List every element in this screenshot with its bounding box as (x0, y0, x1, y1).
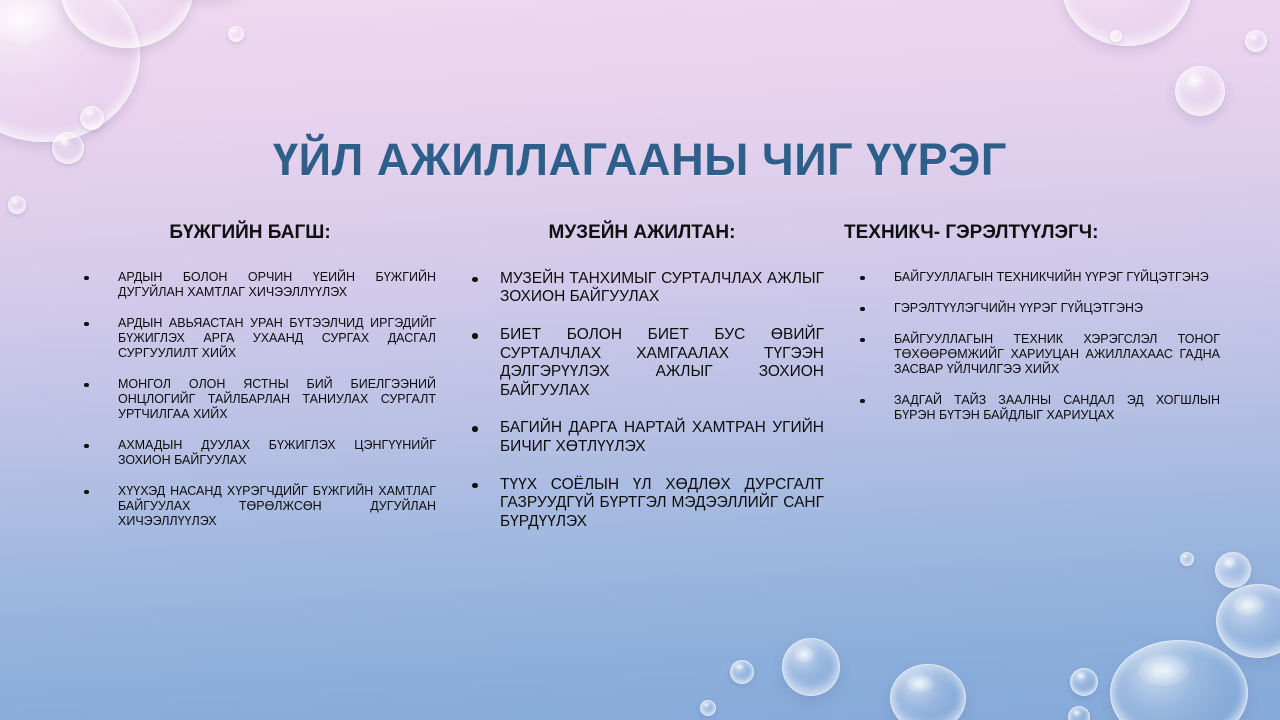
bullet-item: АРДЫН БОЛОН ОРЧИН ҮЕИЙН БҮЖГИЙН ДУГУЙЛАН… (64, 270, 436, 300)
content-column-2: МУЗЕЙН АЖИЛТАН: МУЗЕЙН ТАНХИМЫГ СУРТАЛЧЛ… (460, 222, 824, 550)
bullet-item: АХМАДЫН ДУУЛАХ БҮЖИГЛЭХ ЦЭНГҮҮНИЙГ ЗОХИО… (64, 438, 436, 468)
bullet-item: ТҮҮХ СОЁЛЫН ҮЛ ХӨДЛӨХ ДУРСГАЛТ ГАЗРУУДГҮ… (460, 476, 824, 532)
slide-title: ҮЙЛ АЖИЛЛАГААНЫ ЧИГ ҮҮРЭГ (64, 135, 1216, 185)
bubble-icon (1175, 66, 1225, 116)
presentation-slide: ҮЙЛ АЖИЛЛАГААНЫ ЧИГ ҮҮРЭГ БҮЖГИЙН БАГШ: … (0, 0, 1280, 720)
bullet-item: ГЭРЭЛТҮҮЛЭГЧИЙН ҮҮРЭГ ГҮЙЦЭТГЭНЭ (840, 301, 1220, 316)
bullet-list: БАЙГУУЛЛАГЫН ТЕХНИКЧИЙН ҮҮРЭГ ГҮЙЦЭТГЭНЭ… (840, 270, 1220, 423)
bubble-icon (1068, 706, 1090, 720)
column-heading: МУЗЕЙН АЖИЛТАН: (460, 222, 824, 244)
content-column-1: БҮЖГИЙН БАГШ: АРДЫН БОЛОН ОРЧИН ҮЕИЙН БҮ… (64, 222, 436, 545)
bullet-item: БАЙГУУЛЛАГЫН ТЕХНИКЧИЙН ҮҮРЭГ ГҮЙЦЭТГЭНЭ (840, 270, 1220, 285)
bubble-icon (8, 196, 26, 214)
bubble-icon (730, 660, 754, 684)
bubble-icon (1215, 552, 1251, 588)
bullet-item: МОНГОЛ ОЛОН ЯСТНЫ БИЙ БИЕЛГЭЭНИЙ ОНЦЛОГИ… (64, 377, 436, 422)
bubble-icon (1070, 668, 1098, 696)
bubble-icon (60, 0, 194, 48)
bubble-icon (1062, 0, 1192, 46)
bubble-icon (1245, 30, 1267, 52)
bullet-item: БИЕТ БОЛОН БИЕТ БУС ӨВИЙГ СУРТАЛЧЛАХ ХАМ… (460, 326, 824, 400)
column-heading: ТЕХНИКЧ- ГЭРЭЛТҮҮЛЭГЧ: (840, 222, 1220, 244)
bubble-icon (1110, 30, 1122, 42)
bubble-icon (0, 0, 140, 142)
column-heading: БҮЖГИЙН БАГШ: (64, 222, 436, 244)
bubble-icon (782, 638, 840, 696)
bullet-item: ЗАДГАЙ ТАЙЗ ЗААЛНЫ САНДАЛ ЭД ХОГШЛЫН БҮР… (840, 393, 1220, 423)
bullet-list: МУЗЕЙН ТАНХИМЫГ СУРТАЛЧЛАХ АЖЛЫГ ЗОХИОН … (460, 270, 824, 532)
bullet-list: АРДЫН БОЛОН ОРЧИН ҮЕИЙН БҮЖГИЙН ДУГУЙЛАН… (64, 270, 436, 529)
content-column-3: ТЕХНИКЧ- ГЭРЭЛТҮҮЛЭГЧ: БАЙГУУЛЛАГЫН ТЕХН… (840, 222, 1220, 439)
bullet-item: МУЗЕЙН ТАНХИМЫГ СУРТАЛЧЛАХ АЖЛЫГ ЗОХИОН … (460, 270, 824, 307)
bullet-item: АРДЫН АВЬЯАСТАН УРАН БҮТЭЭЛЧИД ИРГЭДИЙГ … (64, 316, 436, 361)
bubble-icon (1216, 584, 1280, 658)
bullet-item: БАГИЙН ДАРГА НАРТАЙ ХАМТРАН УГИЙН БИЧИГ … (460, 419, 824, 456)
bullet-item: БАЙГУУЛЛАГЫН ТЕХНИК ХЭРЭГСЛЭЛ ТОНОГ ТӨХӨ… (840, 332, 1220, 377)
bullet-item: ХҮҮХЭД НАСАНД ХҮРЭГЧДИЙГ БҮЖГИЙН ХАМТЛАГ… (64, 484, 436, 529)
bubble-icon (80, 106, 104, 130)
bubble-icon (890, 664, 966, 720)
bubble-icon (1110, 640, 1248, 720)
bubble-icon (1180, 552, 1194, 566)
bubble-icon (700, 700, 716, 716)
bubble-icon (228, 26, 244, 42)
